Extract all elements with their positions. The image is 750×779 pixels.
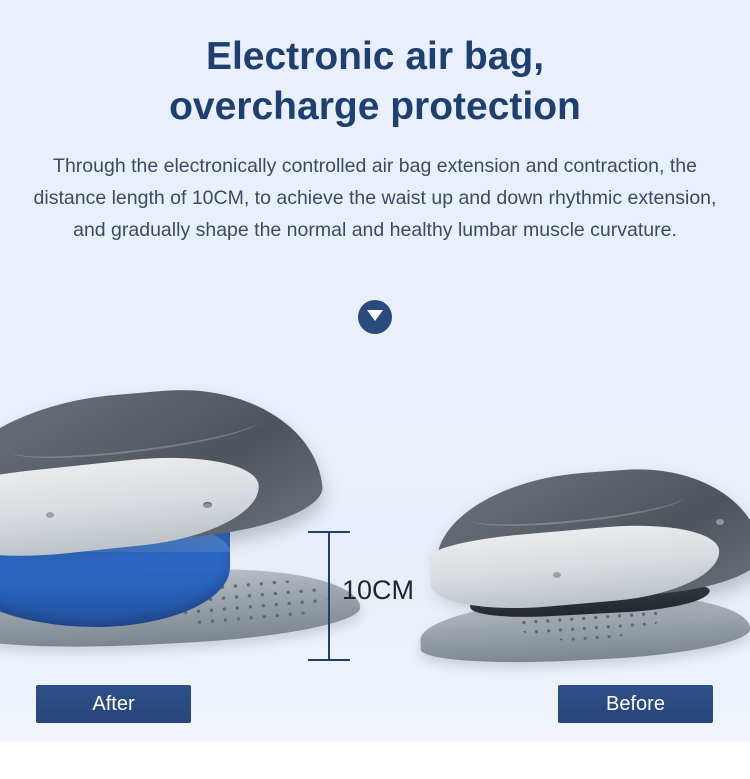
before-label: Before bbox=[558, 685, 713, 723]
left-device-screw-rear bbox=[46, 512, 54, 518]
chevron-down-icon[interactable] bbox=[358, 300, 392, 334]
right-device-screw-rear bbox=[553, 572, 561, 578]
after-label: After bbox=[36, 685, 191, 723]
right-device-screw-front bbox=[716, 519, 724, 525]
measurement-bottom-cap bbox=[308, 659, 350, 661]
page-title: Electronic air bag, overcharge protectio… bbox=[0, 0, 750, 132]
left-device-screw-front bbox=[203, 502, 212, 508]
page-subtitle: Through the electronically controlled ai… bbox=[20, 132, 730, 246]
measurement-annotation: 10CM bbox=[306, 531, 436, 661]
measurement-label: 10CM bbox=[342, 575, 414, 606]
scroll-hint bbox=[0, 300, 750, 339]
promo-page: Electronic air bag, overcharge protectio… bbox=[0, 0, 750, 779]
page-title-line-2: overcharge protection bbox=[0, 82, 750, 132]
measurement-vertical-line bbox=[328, 531, 330, 661]
page-title-line-1: Electronic air bag, bbox=[206, 35, 544, 78]
header-section: Electronic air bag, overcharge protectio… bbox=[0, 0, 750, 380]
product-comparison-image: 10CM After Before bbox=[0, 376, 750, 779]
footer-whitespace bbox=[0, 742, 750, 779]
